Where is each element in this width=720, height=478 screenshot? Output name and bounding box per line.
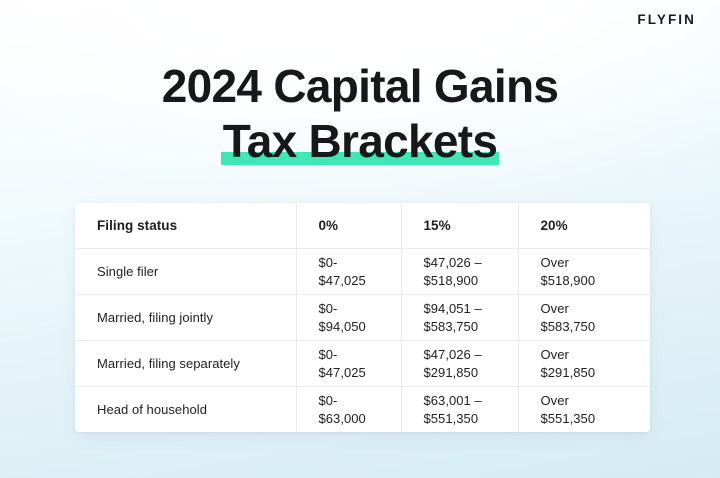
range-lower: $47,026 –: [424, 346, 518, 363]
cell-rate-0: $0- $47,025: [296, 341, 401, 387]
cell-rate-15: $47,026 – $291,850: [401, 341, 518, 387]
range-upper: $291,850: [541, 364, 651, 381]
range-upper: $94,050: [319, 318, 401, 335]
cell-rate-20: Over $518,900: [518, 249, 650, 295]
cell-filing-status: Single filer: [75, 249, 296, 295]
range-upper: $47,025: [319, 364, 401, 381]
range-upper: $551,350: [424, 410, 518, 427]
range-upper: $47,025: [319, 272, 401, 289]
range-lower: $0-: [319, 392, 401, 409]
range-upper: $551,350: [541, 410, 651, 427]
cell-rate-15: $47,026 – $518,900: [401, 249, 518, 295]
range-upper: $518,900: [541, 272, 651, 289]
range-upper: $63,000: [319, 410, 401, 427]
column-header-rate-0: 0%: [296, 203, 401, 249]
range-upper: $291,850: [424, 364, 518, 381]
range-lower: Over: [541, 346, 651, 363]
table-body: Single filer $0- $47,025 $47,026 – $518,…: [75, 249, 650, 433]
column-header-rate-20: 20%: [518, 203, 650, 249]
range-lower: $63,001 –: [424, 392, 518, 409]
range-lower: Over: [541, 392, 651, 409]
cell-rate-0: $0- $94,050: [296, 295, 401, 341]
cell-filing-status: Head of household: [75, 387, 296, 433]
table-header-row: Filing status 0% 15% 20%: [75, 203, 650, 249]
table-row: Married, filing jointly $0- $94,050 $94,…: [75, 295, 650, 341]
cell-rate-0: $0- $63,000: [296, 387, 401, 433]
range-lower: $94,051 –: [424, 300, 518, 317]
table-row: Single filer $0- $47,025 $47,026 – $518,…: [75, 249, 650, 295]
range-lower: $0-: [319, 300, 401, 317]
range-lower: $0-: [319, 346, 401, 363]
range-upper: $583,750: [541, 318, 651, 335]
title-line-2: Tax Brackets: [0, 115, 720, 168]
range-lower: $0-: [319, 254, 401, 271]
cell-rate-0: $0- $47,025: [296, 249, 401, 295]
range-lower: Over: [541, 254, 651, 271]
cell-rate-20: Over $583,750: [518, 295, 650, 341]
cell-filing-status: Married, filing separately: [75, 341, 296, 387]
cell-rate-20: Over $551,350: [518, 387, 650, 433]
title-line-1: 2024 Capital Gains: [0, 60, 720, 113]
tax-brackets-table-card: Filing status 0% 15% 20% Single filer $0…: [75, 203, 650, 432]
page-title: 2024 Capital Gains Tax Brackets: [0, 60, 720, 168]
cell-rate-20: Over $291,850: [518, 341, 650, 387]
range-upper: $583,750: [424, 318, 518, 335]
range-lower: $47,026 –: [424, 254, 518, 271]
cell-rate-15: $94,051 – $583,750: [401, 295, 518, 341]
column-header-filing-status: Filing status: [75, 203, 296, 249]
table-row: Married, filing separately $0- $47,025 $…: [75, 341, 650, 387]
infographic-poster: FLYFIN 2024 Capital Gains Tax Brackets F…: [0, 0, 720, 478]
cell-rate-15: $63,001 – $551,350: [401, 387, 518, 433]
table-row: Head of household $0- $63,000 $63,001 – …: [75, 387, 650, 433]
column-header-rate-15: 15%: [401, 203, 518, 249]
range-lower: Over: [541, 300, 651, 317]
tax-brackets-table: Filing status 0% 15% 20% Single filer $0…: [75, 203, 650, 432]
table-header: Filing status 0% 15% 20%: [75, 203, 650, 249]
title-highlight-wrapper: Tax Brackets: [221, 115, 500, 168]
range-upper: $518,900: [424, 272, 518, 289]
flyfin-logo: FLYFIN: [637, 13, 696, 27]
title-line-2-text: Tax Brackets: [223, 115, 498, 167]
cell-filing-status: Married, filing jointly: [75, 295, 296, 341]
